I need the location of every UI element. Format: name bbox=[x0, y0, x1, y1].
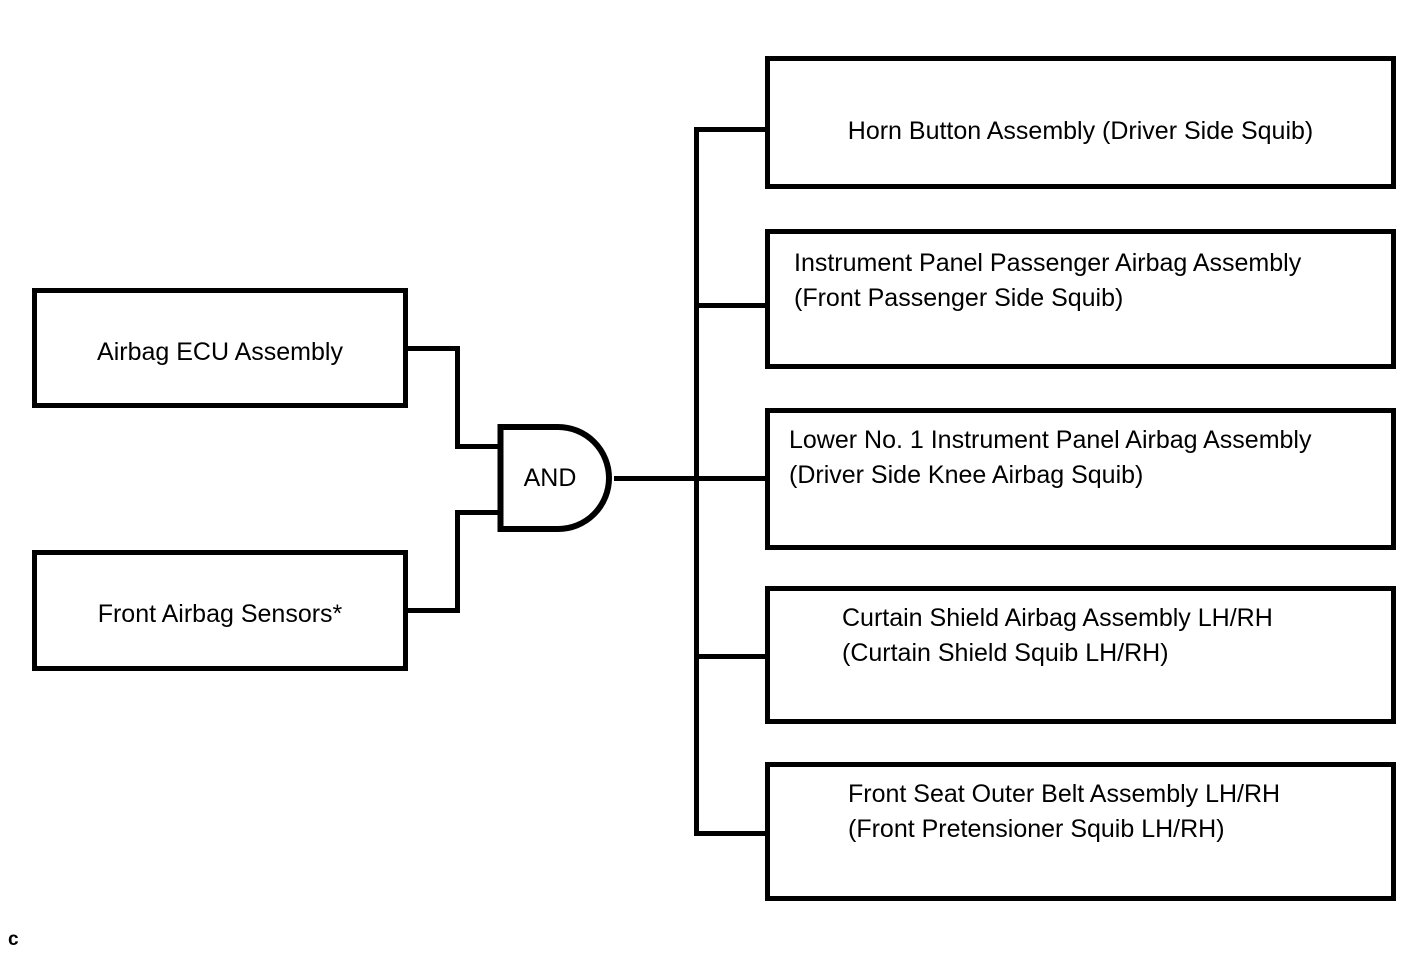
wire-branch-4-h bbox=[694, 654, 769, 659]
wire-output-trunk-v bbox=[694, 127, 699, 836]
node-horn-button-assembly-label: Horn Button Assembly (Driver Side Squib) bbox=[770, 114, 1391, 149]
wire-gate-input-top-h bbox=[455, 444, 501, 449]
page-corner-marker: c bbox=[8, 930, 19, 949]
node-airbag-ecu-assembly-label: Airbag ECU Assembly bbox=[37, 335, 403, 370]
node-front-airbag-sensors[interactable]: Front Airbag Sensors* bbox=[32, 550, 408, 671]
wire-sensors-out-h bbox=[406, 608, 460, 613]
node-instrument-panel-passenger-airbag-assembly-label: Instrument Panel Passenger Airbag Assemb… bbox=[770, 246, 1391, 316]
and-gate-label: AND bbox=[496, 424, 618, 532]
and-gate[interactable]: AND bbox=[496, 424, 618, 532]
node-front-seat-outer-belt-assembly-label: Front Seat Outer Belt Assembly LH/RH (Fr… bbox=[770, 777, 1391, 847]
node-lower-no-1-instrument-panel-airbag-assembly[interactable]: Lower No. 1 Instrument Panel Airbag Asse… bbox=[765, 408, 1396, 550]
wire-ecu-down-v bbox=[455, 346, 460, 449]
node-airbag-ecu-assembly[interactable]: Airbag ECU Assembly bbox=[32, 288, 408, 408]
wire-gate-input-bottom-h bbox=[455, 510, 501, 515]
wire-sensors-up-v bbox=[455, 510, 460, 613]
logic-diagram-canvas: Airbag ECU Assembly Front Airbag Sensors… bbox=[0, 0, 1424, 959]
wire-branch-5-h bbox=[694, 831, 769, 836]
node-instrument-panel-passenger-airbag-assembly[interactable]: Instrument Panel Passenger Airbag Assemb… bbox=[765, 229, 1396, 369]
node-curtain-shield-airbag-assembly-label: Curtain Shield Airbag Assembly LH/RH (Cu… bbox=[770, 601, 1391, 671]
node-curtain-shield-airbag-assembly[interactable]: Curtain Shield Airbag Assembly LH/RH (Cu… bbox=[765, 586, 1396, 724]
node-horn-button-assembly[interactable]: Horn Button Assembly (Driver Side Squib) bbox=[765, 56, 1396, 189]
wire-branch-3-h bbox=[694, 476, 769, 481]
node-front-seat-outer-belt-assembly[interactable]: Front Seat Outer Belt Assembly LH/RH (Fr… bbox=[765, 762, 1396, 901]
wire-ecu-out-h bbox=[406, 346, 460, 351]
node-front-airbag-sensors-label: Front Airbag Sensors* bbox=[37, 597, 403, 632]
node-lower-no-1-instrument-panel-airbag-assembly-label: Lower No. 1 Instrument Panel Airbag Asse… bbox=[770, 423, 1391, 493]
wire-branch-1-h bbox=[694, 127, 769, 132]
wire-branch-2-h bbox=[694, 303, 769, 308]
